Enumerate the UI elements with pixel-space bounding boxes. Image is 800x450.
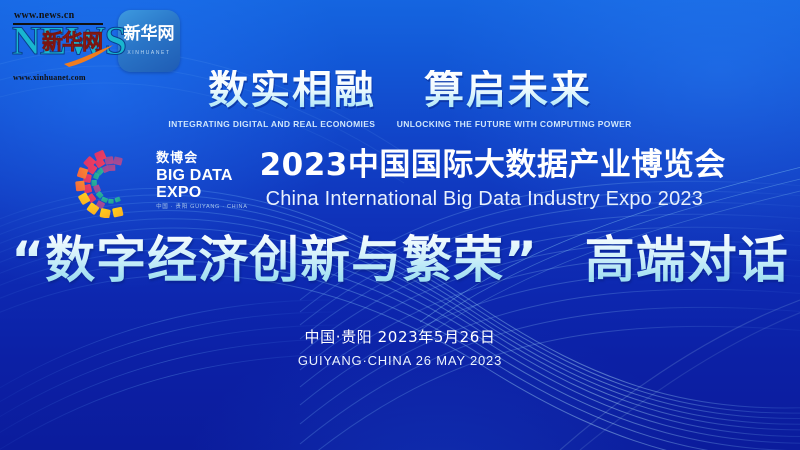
expo-mark-en-line2: EXPO (156, 185, 247, 201)
expo-title-block: 2023中国国际大数据产业博览会 China International Big… (260, 149, 726, 211)
expo-mark-location: 中国 · 贵阳 GUIYANG · CHINA (156, 205, 247, 211)
forum-theme-suffix: 高端对话 (585, 231, 789, 289)
headline-cn-part2: 算启未来 (424, 67, 592, 113)
expo-title-chinese: 2023中国国际大数据产业博览会 (260, 149, 726, 182)
forum-theme-quoted: “数字经济创新与繁荣” (11, 231, 538, 289)
big-data-expo-logo: 数博会 BIG DATA EXPO 中国 · 贵阳 GUIYANG · CHIN… (74, 142, 247, 218)
xinhuanet-app-icon: 新华网 XINHUANET (118, 10, 180, 72)
expo-mark-cn: 数博会 (156, 152, 247, 165)
news-swoosh-icon (63, 44, 115, 68)
headline-en-part1: INTEGRATING DIGITAL AND REAL ECONOMIES (168, 119, 375, 129)
expo-mark-en-line1: BIG DATA (156, 168, 247, 184)
headline-en-part2: UNLOCKING THE FUTURE WITH COMPUTING POWE… (397, 119, 632, 129)
headline-cn-part1: 数实相融 (208, 67, 376, 113)
app-icon-en-name: XINHUANET (127, 50, 170, 56)
app-icon-cn-name: 新华网 (124, 26, 175, 43)
event-date-english: GUIYANG·CHINA 26 MAY 2023 (0, 353, 800, 368)
expo-logo-text: 数博会 BIG DATA EXPO 中国 · 贵阳 GUIYANG · CHIN… (156, 150, 247, 211)
expo-identity-row: 数博会 BIG DATA EXPO 中国 · 贵阳 GUIYANG · CHIN… (0, 142, 800, 218)
event-date-chinese: 中国·贵阳 2023年5月26日 (0, 326, 800, 347)
event-date-block: 中国·贵阳 2023年5月26日 GUIYANG·CHINA 26 MAY 20… (0, 326, 800, 368)
headline-english: INTEGRATING DIGITAL AND REAL ECONOMIES U… (0, 119, 800, 129)
headline-chinese: 数实相融 算启未来 (0, 70, 800, 110)
headline-block: 数实相融 算启未来 INTEGRATING DIGITAL AND REAL E… (0, 70, 800, 129)
forum-theme-title: “数字经济创新与繁荣” 高端对话 (0, 232, 800, 288)
expo-poster: www.news.cn NEWS 新华网 www.xinhuanet.com 新… (0, 0, 800, 450)
expo-spiral-icon (74, 142, 150, 218)
expo-title-english: China International Big Data Industry Ex… (260, 188, 703, 211)
